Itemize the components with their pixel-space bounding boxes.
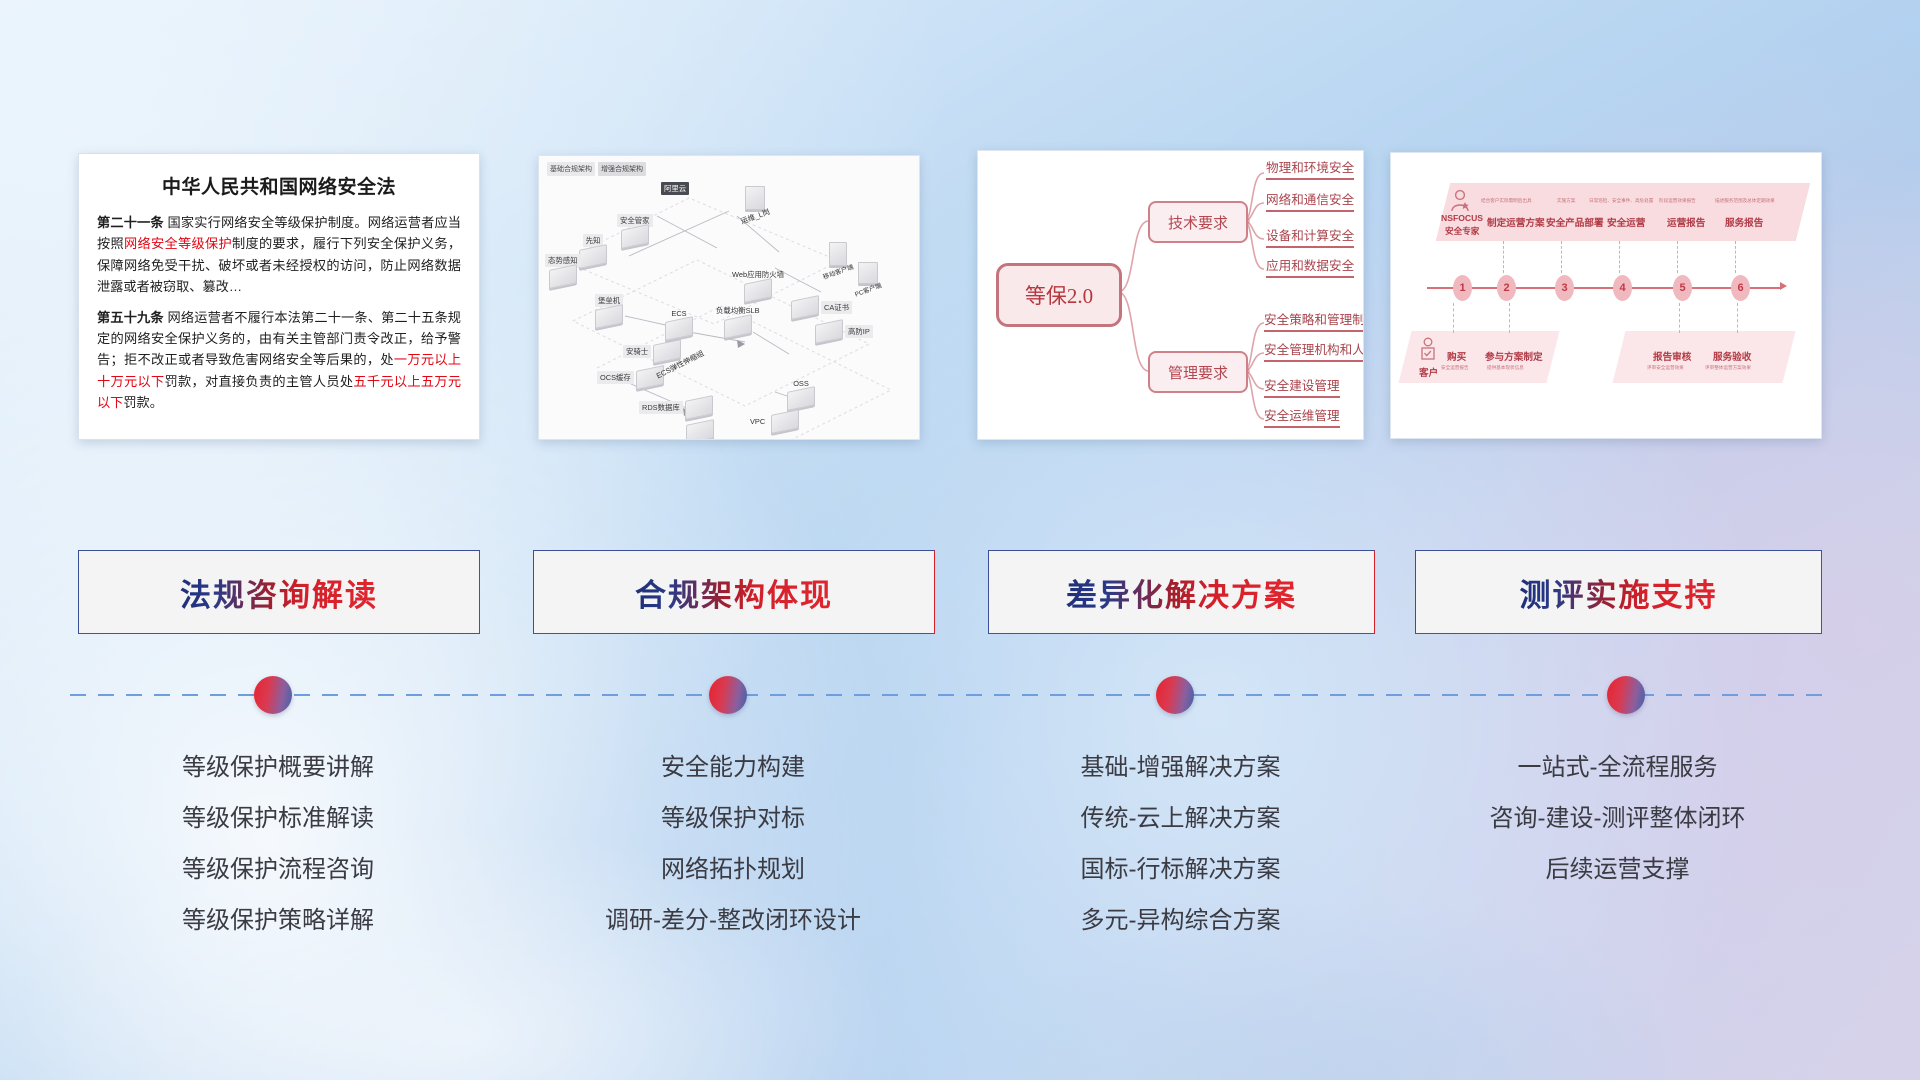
arch-node-aliyun: 阿里云 [661, 182, 689, 195]
timeline-customer-name: 客户 [1419, 365, 1438, 379]
section-title-box-4[interactable]: 测评实施支持 [1415, 550, 1822, 634]
timeline-marker-1[interactable] [254, 676, 292, 714]
section-title-box-1[interactable]: 法规咨询解读 [78, 550, 480, 634]
arch-node-label: 阿里云 [661, 182, 689, 195]
server-cube-icon [787, 386, 815, 411]
timeline-leader-5 [1735, 241, 1737, 273]
server-cube-icon [744, 278, 772, 303]
timeline-bottom-band-right [1613, 331, 1796, 383]
timeline-leader-8 [1679, 303, 1681, 333]
section-title-box-3[interactable]: 差异化解决方案 [988, 550, 1375, 634]
server-cube-icon [595, 304, 623, 329]
server-cube-icon [579, 244, 607, 269]
arch-node-0: 安全管家 [617, 214, 653, 246]
timeline-leader-3 [1619, 241, 1621, 273]
law-paragraph-1: 第二十一条 国家实行网络安全等级保护制度。网络运营者应当按照网络安全等级保护制度… [97, 212, 461, 298]
mindmap-leaf-0-1: 网络和通信安全 [1266, 189, 1354, 212]
mindmap-leaf-1-2: 安全建设管理 [1264, 375, 1340, 398]
timeline-leader-7 [1509, 303, 1511, 333]
bullet-column-3: 基础-增强解决方案 传统-云上解决方案 国标-行标解决方案 多元-异构综合方案 [988, 742, 1373, 946]
timeline-top-title-2: 安全运营 [1607, 215, 1645, 229]
section-title-box-2[interactable]: 合规架构体现 [533, 550, 935, 634]
timeline-top-title-0: 制定运营方案 [1487, 215, 1545, 229]
timeline-bottom-title-1: 参与方案制定 [1485, 349, 1543, 363]
arch-node-13: 高防IP [815, 322, 873, 341]
server-cube-icon [686, 419, 714, 440]
arch-node-10: 负载均衡SLB [713, 304, 763, 336]
mindmap-leaf-0-3: 应用和数据安全 [1266, 255, 1354, 278]
arch-node-17: OSS [787, 378, 815, 408]
timeline-axis-arrow-icon [1780, 282, 1787, 290]
bullet-item: 咨询-建设-测评整体闭环 [1415, 793, 1820, 844]
law-article-number-2: 第五十九条 [97, 310, 164, 325]
timeline-marker-3[interactable] [1156, 676, 1194, 714]
server-cube-icon [549, 264, 577, 289]
bullet-item: 后续运营支撑 [1415, 844, 1820, 895]
section-title-label: 合规架构体现 [635, 570, 833, 615]
server-cube-icon [791, 295, 819, 320]
service-timeline-card: NSFOCUS 安全专家 结合客户实际需明后出具 制定运营方案 实施方案 安全产… [1390, 152, 1822, 439]
timeline-top-sub-3: 阶段运营效果报告 [1659, 198, 1696, 204]
timeline-top-sub-0: 结合客户实际需明后出具 [1481, 198, 1532, 204]
bullet-item: 安全能力构建 [533, 742, 933, 793]
mindmap-leaf-1-3: 安全运维管理 [1264, 405, 1340, 428]
bullet-item: 等级保护对标 [533, 793, 933, 844]
timeline-rail [70, 694, 1822, 696]
arch-node-8: 数据库审计 [679, 422, 722, 440]
timeline-top-title-1: 安全产品部署 [1546, 215, 1604, 229]
mindmap-canvas: 等保2.0 技术要求 管理要求 物理和环境安全 网络和通信安全 设备和计算安全 … [978, 151, 1363, 439]
timeline-top-sub-1: 实施方案 [1557, 198, 1575, 204]
timeline-top-band [1436, 183, 1810, 241]
bullet-column-4: 一站式-全流程服务 咨询-建设-测评整体闭环 后续运营支撑 [1415, 742, 1820, 895]
timeline-step-4: 4 [1613, 275, 1632, 301]
customer-person-icon [1419, 337, 1437, 363]
timeline-step-2: 2 [1497, 275, 1516, 301]
server-cube-icon [621, 224, 649, 249]
arch-node-label: 负载均衡SLB [713, 304, 763, 317]
server-cube-icon [665, 316, 693, 341]
bullet-item: 等级保护标准解读 [78, 793, 478, 844]
bullet-item: 国标-行标解决方案 [988, 844, 1373, 895]
arch-node-label: Web应用防火墙 [729, 268, 787, 281]
timeline-marker-2[interactable] [709, 676, 747, 714]
timeline-leader-9 [1737, 303, 1739, 333]
server-cube-icon [815, 319, 843, 344]
timeline-step-3: 3 [1555, 275, 1574, 301]
bullet-item: 传统-云上解决方案 [988, 793, 1373, 844]
mindmap-card: 等保2.0 技术要求 管理要求 物理和环境安全 网络和通信安全 设备和计算安全 … [977, 150, 1364, 440]
timeline-step-6: 6 [1731, 275, 1750, 301]
section-title-label: 测评实施支持 [1520, 570, 1718, 615]
timeline-axis [1427, 287, 1782, 289]
server-cube-icon [771, 409, 799, 434]
timeline-bottom-title-0: 购买 [1447, 349, 1466, 363]
bullet-item: 等级保护流程咨询 [78, 844, 478, 895]
bullet-item: 基础-增强解决方案 [988, 742, 1373, 793]
timeline-leader-4 [1677, 241, 1679, 273]
bullet-item: 多元-异构综合方案 [988, 895, 1373, 946]
timeline-bottom-title-3: 服务验收 [1713, 349, 1751, 363]
law-seg-1-1: 网络安全等级保护 [124, 236, 232, 251]
section-title-label: 法规咨询解读 [180, 570, 378, 615]
arch-node-18: VPC [747, 412, 799, 431]
bullet-item: 网络拓扑规划 [533, 844, 933, 895]
timeline-top-title-4: 服务报告 [1725, 215, 1763, 229]
bullet-item: 调研-差分-整改闭环设计 [533, 895, 933, 946]
arch-node-1: 先知 [579, 234, 607, 266]
law-card-body: 中华人民共和国网络安全法 第二十一条 国家实行网络安全等级保护制度。网络运营者应… [79, 154, 479, 439]
timeline-bottom-sub-3: 评审整体运营方案效果 [1705, 365, 1751, 371]
mindmap-leaf-1-0: 安全策略和管理制度 [1264, 309, 1364, 332]
timeline-leader-2 [1561, 241, 1563, 273]
mindmap-root-node: 等保2.0 [996, 263, 1122, 327]
timeline-expert-name-line2: 安全专家 [1445, 225, 1479, 237]
architecture-canvas: 基础合规架构 增强合规架构 [539, 156, 919, 439]
mindmap-branch-technical: 技术要求 [1148, 201, 1248, 243]
timeline-marker-4[interactable] [1607, 676, 1645, 714]
slide-stage: 中华人民共和国网络安全法 第二十一条 国家实行网络安全等级保护制度。网络运营者应… [0, 0, 1920, 1080]
law-seg-2-4: 罚款。 [123, 395, 163, 410]
bullet-column-1: 等级保护概要讲解 等级保护标准解读 等级保护流程咨询 等级保护策略详解 [78, 742, 478, 946]
server-cube-icon [724, 314, 752, 339]
mindmap-leaf-0-0: 物理和环境安全 [1266, 157, 1354, 180]
arch-node-label: OCS缓存 [597, 371, 634, 384]
timeline-step-1: 1 [1453, 275, 1472, 301]
expert-person-icon [1449, 189, 1471, 213]
timeline-bottom-sub-2: 评审安全运营效果 [1647, 365, 1684, 371]
arch-node-14: 运维_L岗 [737, 186, 773, 223]
bullet-item: 等级保护概要讲解 [78, 742, 478, 793]
law-seg-2-2: 罚款，对直接负责的主管人员处 [164, 374, 353, 389]
arch-node-2: 态势感知 [545, 254, 581, 286]
arch-node-label: CA证书 [821, 301, 852, 314]
timeline-top-sub-4: 描述服务范围及总体定期效果 [1715, 198, 1775, 204]
arch-node-label: 高防IP [845, 325, 873, 338]
law-text-card: 中华人民共和国网络安全法 第二十一条 国家实行网络安全等级保护制度。网络运营者应… [78, 153, 480, 440]
bullet-item: 一站式-全流程服务 [1415, 742, 1820, 793]
mindmap-branch-management: 管理要求 [1148, 351, 1248, 393]
timeline-leader-6 [1453, 303, 1455, 333]
timeline-top-sub-2: 日常巡检、安全事件、高危处置 [1589, 198, 1653, 204]
arch-node-16: PC客户端 [851, 262, 885, 295]
timeline-bottom-sub-0: 安全运营报告 [1441, 365, 1469, 371]
law-card-title: 中华人民共和国网络安全法 [97, 172, 461, 199]
law-article-number-1: 第二十一条 [97, 215, 164, 230]
bullet-item: 等级保护策略详解 [78, 895, 478, 946]
timeline-bottom-title-2: 报告审核 [1653, 349, 1691, 363]
timeline-top-title-3: 运营报告 [1667, 215, 1705, 229]
arch-node-label: VPC [747, 416, 768, 427]
timeline-expert-name-line1: NSFOCUS [1441, 213, 1483, 223]
timeline-canvas: NSFOCUS 安全专家 结合客户实际需明后出具 制定运营方案 实施方案 安全产… [1391, 153, 1821, 438]
arch-node-3: 堡垒机 [595, 294, 623, 326]
mindmap-leaf-1-1: 安全管理机构和人员 [1264, 339, 1364, 362]
architecture-diagram-card: 基础合规架构 增强合规架构 [538, 155, 920, 440]
timeline-bottom-sub-1: 提供基本现状信息 [1487, 365, 1524, 371]
arch-node-12: CA证书 [791, 298, 852, 317]
bullet-column-2: 安全能力构建 等级保护对标 网络拓扑规划 调研-差分-整改闭环设计 [533, 742, 933, 946]
timeline-step-5: 5 [1673, 275, 1692, 301]
arch-node-11: Web应用防火墙 [729, 268, 787, 300]
law-paragraph-2: 第五十九条 网络运营者不履行本法第二十一条、第二十五条规定的网络安全保护义务的，… [97, 307, 461, 414]
section-title-label: 差异化解决方案 [1066, 570, 1297, 615]
timeline-leader-1 [1503, 241, 1505, 273]
arch-node-7: RDS数据库 [639, 398, 713, 417]
mindmap-leaf-0-2: 设备和计算安全 [1266, 225, 1354, 248]
arch-node-4: 安骑士 [623, 342, 681, 361]
server-cube-icon [685, 395, 713, 420]
arch-node-label: RDS数据库 [639, 401, 683, 414]
arch-node-5: ECS [665, 308, 693, 338]
arch-node-label: 安骑士 [623, 345, 651, 358]
